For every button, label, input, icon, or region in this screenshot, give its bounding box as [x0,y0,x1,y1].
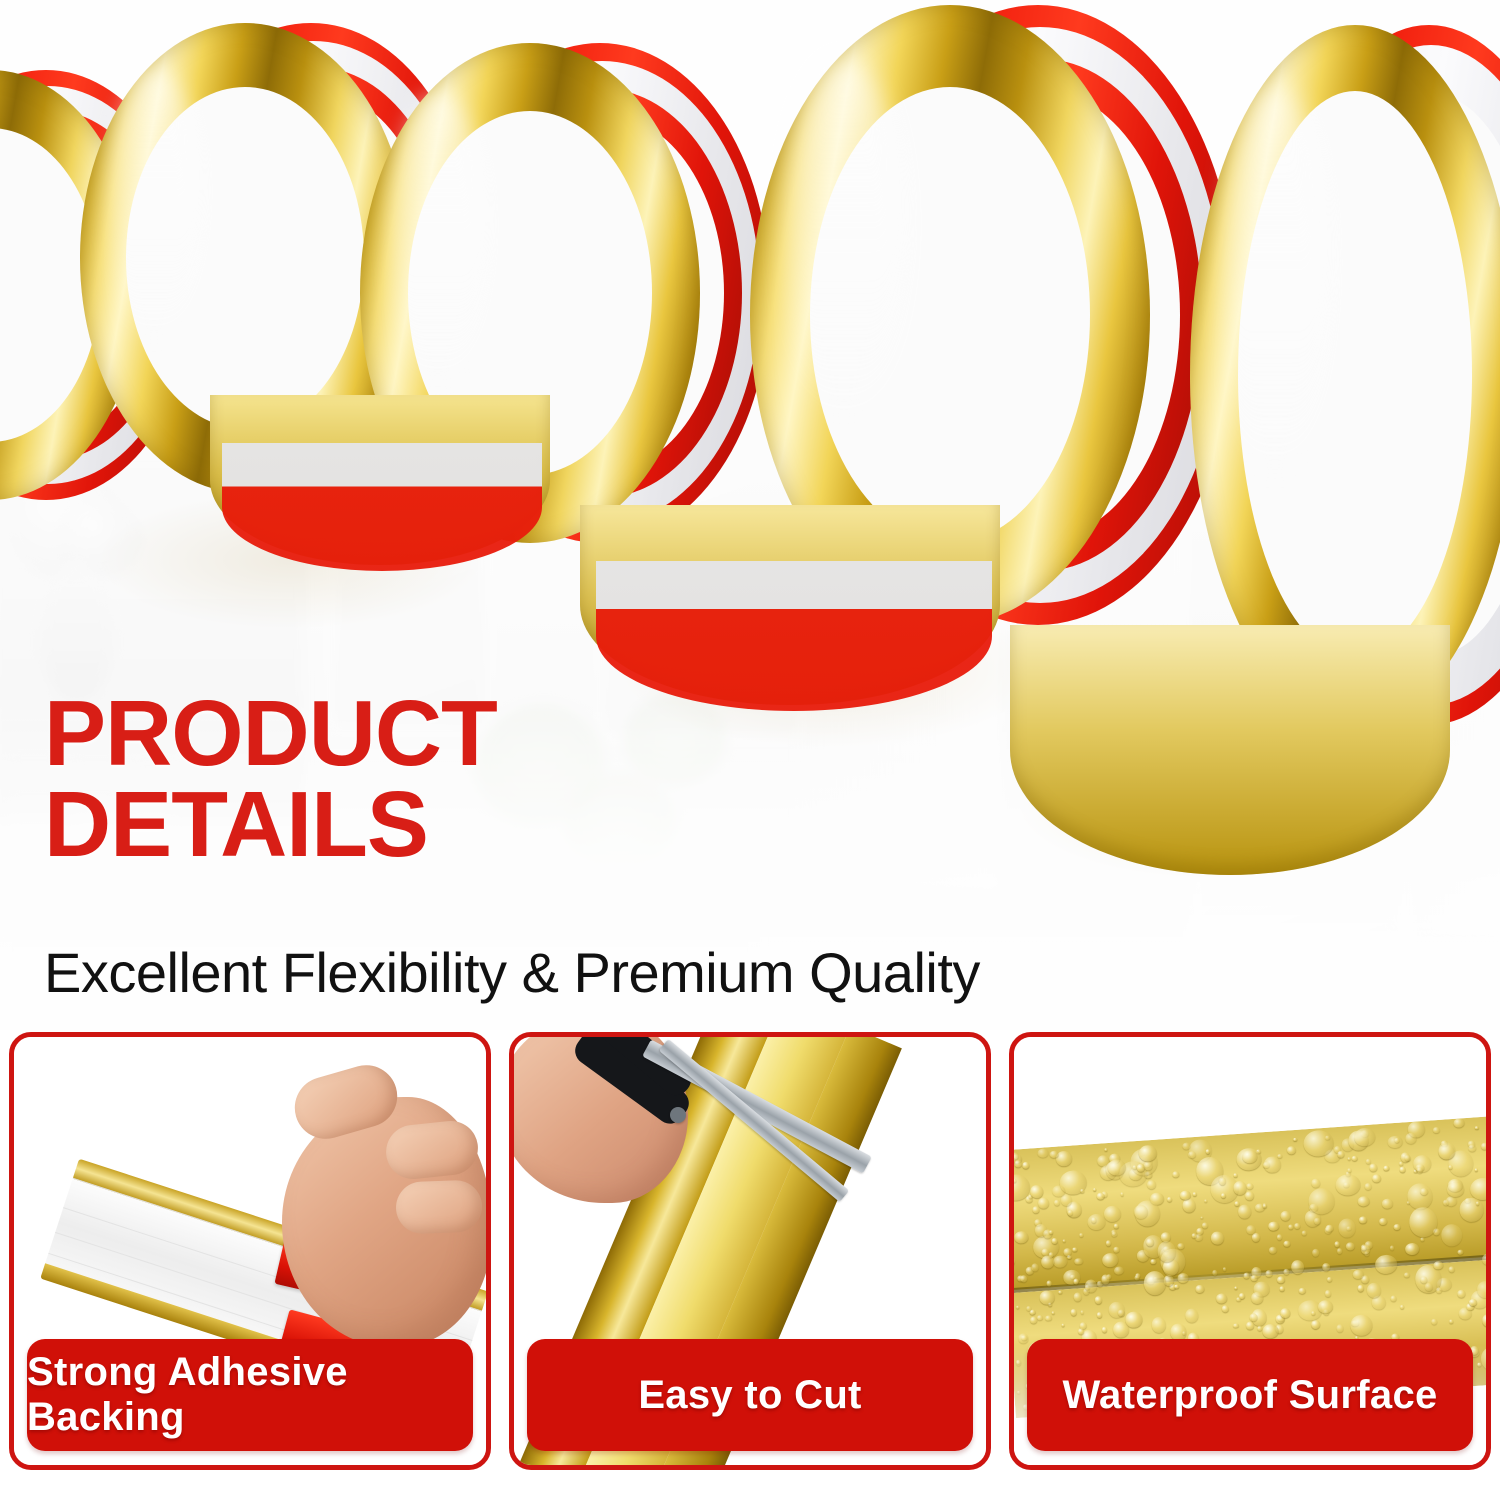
water-droplet [1336,1324,1344,1332]
water-droplet [1311,1178,1320,1188]
water-droplet [1212,1270,1217,1276]
hero-section: PRODUCT DETAILS Excellent Flexibility & … [0,0,1500,1030]
water-droplet [1049,1230,1053,1234]
water-droplet [1280,1286,1285,1291]
water-droplet [1120,1192,1124,1196]
water-droplet [1431,1318,1438,1325]
water-droplet [1264,1156,1281,1174]
panel-caption-text: Easy to Cut [638,1373,861,1418]
panel-frame: Easy to Cut [509,1032,991,1470]
water-droplet [1381,1198,1393,1209]
water-droplet [1101,1275,1110,1285]
panel-caption-bar: Waterproof Surface [1027,1339,1473,1451]
water-droplet [1400,1305,1404,1309]
water-droplet [1210,1231,1224,1246]
coil-loop-end [1190,25,1500,725]
headline-line-1: PRODUCT [44,681,497,785]
water-droplet [1143,1270,1167,1296]
water-droplet [1345,1242,1354,1251]
water-droplet [1234,1173,1239,1177]
water-droplet [1236,1297,1241,1302]
water-droplet [1020,1275,1027,1282]
scissors-blade [659,1039,849,1202]
water-droplet [1096,1312,1102,1318]
water-droplet [1262,1204,1267,1209]
water-droplet [1192,1191,1197,1195]
water-droplet [1182,1198,1196,1214]
water-droplet [1421,1237,1425,1241]
headline-line-2: DETAILS [44,779,944,870]
water-droplet [1262,1323,1279,1338]
water-droplet [1030,1316,1038,1323]
water-droplet [1061,1323,1065,1327]
water-droplet [1311,1248,1319,1257]
water-droplet [1051,1311,1055,1315]
water-droplet [1383,1165,1389,1170]
water-droplet [1078,1328,1084,1334]
water-droplet [1022,1162,1030,1169]
water-droplet [1174,1284,1179,1289]
water-droplet [1244,1273,1250,1279]
finger [395,1180,483,1235]
water-droplet [1357,1196,1370,1207]
water-droplet [1074,1258,1083,1265]
water-droplet [1201,1216,1204,1219]
water-droplet [1379,1218,1387,1225]
water-droplet [1246,1321,1254,1330]
water-droplet [1406,1182,1433,1209]
water-droplet [1195,1285,1204,1294]
water-droplet [1287,1146,1296,1155]
water-droplet [1018,1333,1029,1343]
water-droplet [1389,1245,1394,1251]
water-droplet [1294,1223,1301,1229]
water-droplet [1476,1201,1480,1205]
water-droplet [1293,1138,1297,1141]
water-droplet [1014,1230,1028,1243]
water-droplet [1045,1315,1052,1321]
water-droplet [1101,1327,1106,1333]
coil-inner-cutout [1238,91,1472,659]
water-droplet [1352,1155,1358,1160]
water-droplet [1014,1160,1023,1168]
water-droplet [1449,1320,1453,1324]
water-droplet [1233,1323,1239,1328]
water-droplet [1277,1276,1286,1283]
water-droplet [1204,1199,1207,1202]
water-droplet [1177,1273,1189,1283]
coil-ribbon-liner [222,443,542,571]
water-droplet [1079,1233,1084,1237]
water-droplet [1094,1296,1102,1304]
panel-frame: Strong Adhesive Backing [9,1032,491,1470]
water-droplet [1400,1166,1406,1172]
water-droplet [1337,1248,1343,1254]
water-droplet [1366,1159,1371,1164]
page-title: PRODUCT DETAILS [44,688,944,870]
water-droplet [1177,1243,1184,1249]
water-droplet [1215,1294,1227,1305]
water-droplet [1051,1238,1057,1244]
product-detail-image: PRODUCT DETAILS Excellent Flexibility & … [0,0,1500,1500]
feature-panel-waterproof[interactable]: Waterproof Surface [1009,1032,1491,1470]
water-droplet [1458,1307,1472,1320]
water-droplet [1369,1163,1378,1172]
water-droplet [1072,1247,1077,1252]
water-droplet [1433,1261,1443,1270]
water-droplet [1416,1167,1422,1173]
water-droplet [1147,1180,1156,1189]
water-droplet [1359,1216,1367,1223]
water-droplet [1113,1247,1120,1253]
water-droplet [1114,1224,1119,1229]
coil-inner-cutout [810,87,1090,543]
water-droplet [1322,1262,1330,1271]
water-droplet [1354,1127,1376,1147]
water-droplet [1032,1206,1039,1213]
water-droplet [1374,1254,1397,1274]
water-droplet [1093,1188,1096,1191]
water-droplet [1246,1225,1255,1234]
water-droplet [1251,1274,1259,1281]
water-droplet [1238,1204,1252,1219]
water-droplet [1182,1332,1185,1335]
water-droplet [1459,1197,1484,1222]
water-droplet [1102,1252,1119,1267]
water-droplet [1301,1230,1306,1235]
water-droplet [1031,1263,1039,1271]
water-droplet [1269,1246,1277,1254]
water-droplet [1096,1192,1104,1200]
panel-caption-text: Strong Adhesive Backing [27,1350,473,1440]
water-droplet [1311,1319,1320,1329]
water-droplet [1221,1193,1226,1198]
water-droplet [1244,1190,1254,1200]
scissors-pivot [670,1107,686,1123]
water-droplet [1052,1185,1065,1197]
water-droplet [1435,1287,1441,1293]
water-droplet [1348,1168,1352,1172]
page-subtitle: Excellent Flexibility & Premium Quality [44,940,1344,1005]
water-droplet [1394,1224,1401,1231]
water-droplet [1405,1242,1420,1255]
water-droplet [1325,1290,1331,1297]
water-droplet [1139,1144,1157,1161]
water-droplet [1387,1135,1403,1149]
water-droplet [1037,1148,1049,1158]
water-droplet [1037,1315,1043,1320]
water-droplet [1433,1127,1440,1133]
water-droplet [1246,1183,1253,1190]
water-droplet [1399,1162,1403,1166]
water-droplet [1347,1158,1350,1161]
water-droplet [1481,1143,1486,1150]
water-droplet [1357,1285,1364,1292]
water-droplet [1317,1299,1333,1313]
water-droplet [1151,1317,1167,1334]
water-droplet [1054,1199,1061,1206]
water-droplet [1449,1266,1455,1272]
water-droplet [1016,1306,1020,1310]
water-droplet [1307,1187,1335,1214]
water-droplet [1223,1267,1227,1271]
water-droplet [1334,1242,1339,1248]
water-droplet [1314,1217,1321,1224]
water-droplet [1053,1255,1068,1268]
water-droplet [1449,1165,1453,1169]
water-droplet [1298,1287,1306,1294]
water-droplet [1167,1197,1172,1202]
water-droplet [1482,1254,1486,1266]
water-droplet [1349,1314,1372,1336]
water-droplet [1111,1232,1117,1238]
water-droplet [1257,1326,1262,1332]
water-droplet [1234,1201,1239,1207]
water-droplet [1046,1280,1052,1286]
water-droplet [1150,1258,1156,1264]
water-droplet [1252,1233,1260,1242]
feature-panel-easy-cut[interactable]: Easy to Cut [509,1032,991,1470]
water-droplet [1405,1133,1417,1144]
water-droplet [1280,1211,1291,1221]
water-droplet [1265,1270,1273,1277]
water-droplet [1038,1197,1050,1209]
water-droplet [1413,1155,1432,1173]
water-droplet [1283,1269,1290,1276]
water-droplet [1104,1205,1122,1222]
water-droplet [1404,1272,1410,1277]
water-droplet [1337,1150,1344,1157]
water-droplet [1361,1244,1367,1251]
water-droplet [1234,1286,1237,1289]
feature-panel-row: Strong Adhesive Backing [0,1032,1500,1500]
water-droplet [1277,1234,1282,1240]
water-droplet [1468,1144,1476,1152]
water-droplet [1391,1295,1397,1301]
panel-caption-text: Waterproof Surface [1062,1373,1437,1418]
water-droplet [1041,1255,1055,1269]
water-droplet [1482,1314,1486,1327]
water-droplet [1288,1224,1293,1229]
water-droplet [1106,1240,1112,1246]
water-droplet [1338,1218,1357,1238]
water-droplet [1143,1161,1152,1171]
water-droplet [1440,1223,1463,1247]
water-droplet [1457,1290,1466,1298]
water-droplet [1280,1308,1291,1318]
water-droplet [1446,1181,1464,1197]
feature-panel-adhesive[interactable]: Strong Adhesive Backing [9,1032,491,1470]
panel-frame: Waterproof Surface [1009,1032,1491,1470]
water-droplet [1290,1260,1304,1275]
water-droplet [1185,1308,1199,1323]
water-droplet [1058,1290,1062,1294]
water-droplet [1134,1275,1139,1281]
water-droplet [1324,1227,1332,1235]
water-droplet [1080,1310,1084,1314]
water-droplet [1335,1173,1362,1196]
water-droplet [1205,1149,1210,1154]
water-droplet [1283,1241,1290,1248]
water-droplet [1327,1277,1333,1282]
water-droplet [1457,1249,1463,1255]
water-droplet [1067,1210,1072,1216]
water-droplet [1113,1266,1124,1275]
scissors [584,1051,884,1351]
panel-caption-bar: Easy to Cut [527,1339,973,1451]
water-droplet [1087,1214,1106,1231]
water-droplet [1172,1171,1180,1178]
water-droplet [1268,1221,1279,1231]
coil-inner-cutout [126,87,364,429]
water-droplet [1104,1148,1108,1152]
water-droplet [1030,1184,1044,1198]
water-droplet [1070,1308,1077,1316]
water-droplet [1039,1290,1055,1305]
water-droplet [1475,1126,1479,1130]
water-droplet [1202,1222,1209,1228]
water-droplet [1251,1292,1264,1304]
water-droplet [1453,1118,1465,1128]
water-droplet [1364,1182,1372,1190]
water-droplet [1080,1189,1084,1193]
water-droplet [1475,1168,1478,1171]
panel-caption-bar: Strong Adhesive Backing [27,1339,473,1451]
water-droplet [1073,1278,1079,1284]
coil-ribbon-segment [1010,625,1450,875]
water-droplet [1221,1305,1228,1312]
water-droplet [1372,1174,1381,1183]
water-droplet [1062,1239,1066,1243]
water-droplet [1014,1257,1016,1266]
water-droplet [1133,1204,1148,1219]
water-droplet [1073,1292,1082,1302]
